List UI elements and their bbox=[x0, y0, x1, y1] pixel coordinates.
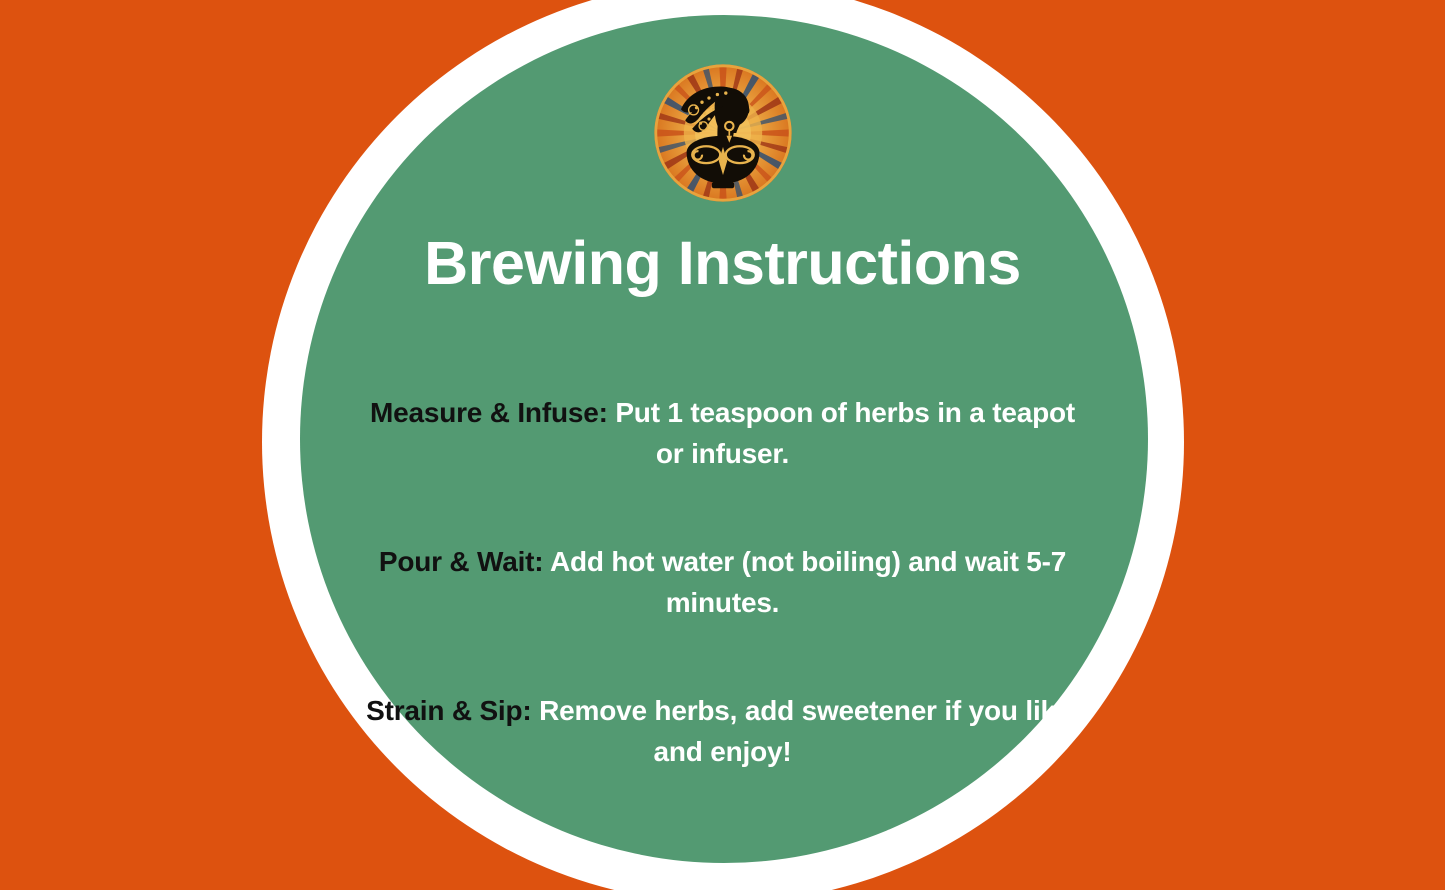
step-label: Strain & Sip: bbox=[366, 695, 531, 726]
page-title: Brewing Instructions bbox=[424, 231, 1021, 295]
step-text: Put 1 teaspoon of herbs in a teapot or i… bbox=[608, 397, 1075, 469]
step-text: Add hot water (not boiling) and wait 5-7… bbox=[543, 546, 1066, 618]
poster-content: Brewing Instructions Measure & Infuse: P… bbox=[0, 0, 1445, 890]
list-item: Strain & Sip: Remove herbs, add sweetene… bbox=[353, 690, 1093, 772]
step-label: Pour & Wait: bbox=[379, 546, 544, 577]
african-queen-emblem-logo bbox=[653, 63, 793, 203]
list-item: Pour & Wait: Add hot water (not boiling)… bbox=[353, 541, 1093, 623]
list-item: Measure & Infuse: Put 1 teaspoon of herb… bbox=[353, 392, 1093, 474]
step-label: Measure & Infuse: bbox=[370, 397, 608, 428]
step-text: Remove herbs, add sweetener if you like,… bbox=[532, 695, 1079, 767]
brewing-steps-list: Measure & Infuse: Put 1 teaspoon of herb… bbox=[353, 364, 1093, 772]
brewing-instructions-poster: Brewing Instructions Measure & Infuse: P… bbox=[0, 0, 1445, 890]
